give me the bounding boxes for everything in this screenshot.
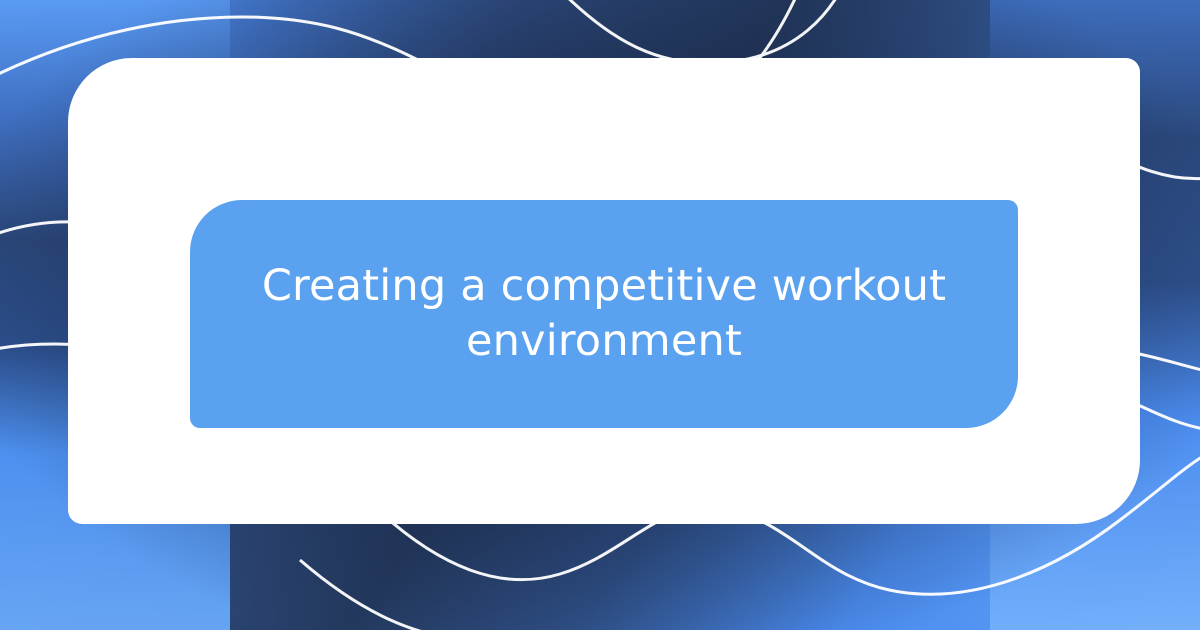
wave-line-right-mid bbox=[1130, 352, 1200, 372]
wave-line-bottom-left bbox=[300, 560, 470, 630]
banner-title: Creating a competitive workout environme… bbox=[190, 200, 1018, 428]
wave-line-top-center bbox=[560, 0, 842, 63]
wave-line-right-lower bbox=[1136, 404, 1200, 430]
banner-graphic: Creating a competitive workout environme… bbox=[0, 0, 1200, 630]
